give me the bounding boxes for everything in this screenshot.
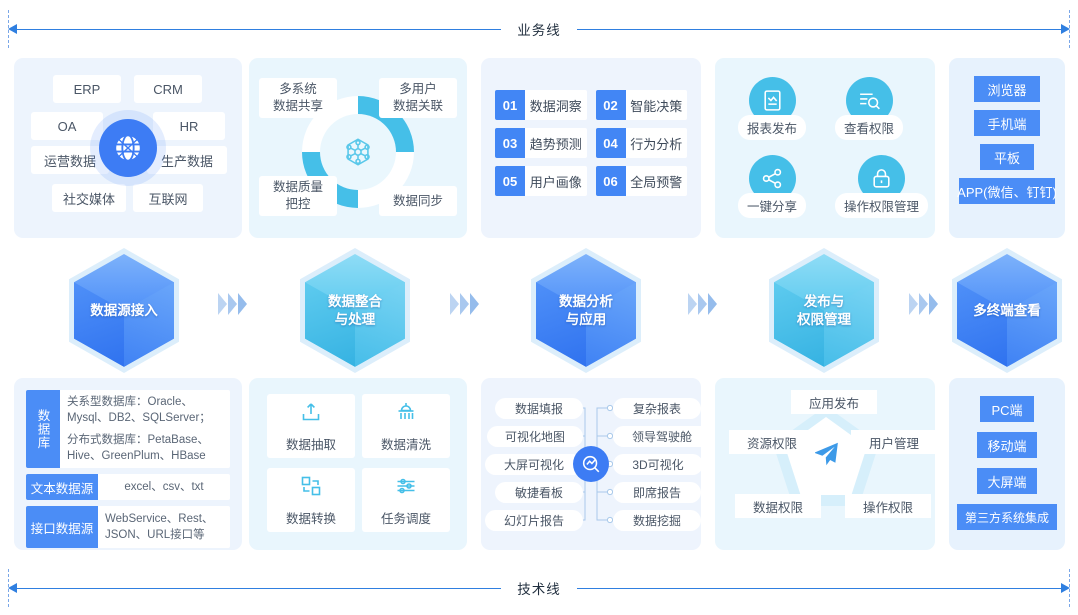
integration-label-sync-line1: 数据同步 bbox=[393, 193, 443, 210]
analysis-number-02: 02 bbox=[596, 90, 626, 120]
analysis-item-06[interactable]: 06 全局预警 bbox=[596, 166, 688, 196]
analysis-text-01: 数据洞察 bbox=[525, 90, 587, 120]
publish-tile-report-label: 报表发布 bbox=[738, 115, 806, 140]
paper-plane-icon bbox=[811, 439, 841, 474]
stage-hex-label-4-line2: 权限管理 bbox=[797, 311, 851, 329]
stage-hex-label-4: 发布与 权限管理 bbox=[769, 248, 879, 373]
stage-hex-label-2-line1: 数据整合 bbox=[328, 293, 382, 311]
permission-node-operation[interactable]: 操作权限 bbox=[845, 494, 931, 518]
integration-label-relate-line2: 数据关联 bbox=[393, 98, 443, 115]
sliders-schedule-icon bbox=[394, 474, 418, 503]
etl-tile-extract[interactable]: 数据抽取 bbox=[267, 394, 355, 458]
stage-hex-label-2-line2: 与处理 bbox=[328, 311, 382, 329]
terminal-button-bigscreen[interactable]: 大屏端 bbox=[977, 468, 1037, 494]
analysis-text-06: 全局预警 bbox=[626, 166, 688, 196]
stage-hex-multi-terminal[interactable]: 多终端查看 bbox=[952, 248, 1062, 373]
analysis-number-06: 06 bbox=[596, 166, 626, 196]
app-node-exec-cockpit[interactable]: 领导驾驶舱 bbox=[613, 426, 711, 447]
source-chip-crm[interactable]: CRM bbox=[134, 75, 202, 103]
store-key-api: 接口数据源 bbox=[26, 506, 98, 548]
source-chip-social[interactable]: 社交媒体 bbox=[52, 184, 126, 212]
permission-node-data[interactable]: 数据权限 bbox=[735, 494, 821, 518]
etl-tile-schedule[interactable]: 任务调度 bbox=[362, 468, 450, 532]
panel-data-integration: 多系统 数据共享 多用户 数据关联 数据质量 把控 数据同步 bbox=[249, 58, 467, 238]
terminal-button-third-party[interactable]: 第三方系统集成 bbox=[957, 504, 1057, 530]
stage-hex-label-4-line1: 发布与 bbox=[797, 293, 851, 311]
stage-hex-label-3-line2: 与应用 bbox=[559, 311, 613, 329]
terminal-button-mobile[interactable]: 手机端 bbox=[974, 110, 1040, 136]
etl-tile-transform[interactable]: 数据转换 bbox=[267, 468, 355, 532]
axis-arrow-left-icon bbox=[8, 24, 17, 34]
panel-publish-permission: 报表发布 查看权限 一键分享 bbox=[715, 58, 935, 238]
store-db-line2: 分布式数据库：PetaBase、Hive、GreenPlum、HBase bbox=[67, 432, 223, 464]
source-chip-erp[interactable]: ERP bbox=[53, 75, 121, 103]
integration-label-quality-line2: 把控 bbox=[285, 196, 310, 213]
axis-dash-right bbox=[1069, 10, 1070, 48]
store-value-database: 关系型数据库：Oracle、Mysql、DB2、SQLServer； 分布式数据… bbox=[60, 390, 230, 468]
stage-hex-publish[interactable]: 发布与 权限管理 bbox=[769, 248, 879, 373]
panel-data-sources: ERP CRM OA HR 运营数据 生产数据 社交媒体 互联网 bbox=[14, 58, 242, 238]
globe-network-icon bbox=[99, 119, 157, 177]
source-chip-oa[interactable]: OA bbox=[31, 112, 103, 140]
panel-data-analysis: 01 数据洞察 02 智能决策 03 趋势预测 04 行为分析 05 用户画像 … bbox=[481, 58, 701, 238]
store-db-line1: 关系型数据库：Oracle、Mysql、DB2、SQLServer； bbox=[67, 394, 223, 426]
analysis-item-05[interactable]: 05 用户画像 bbox=[495, 166, 587, 196]
source-chip-internet[interactable]: 互联网 bbox=[133, 184, 203, 212]
terminal-button-app[interactable]: APP(微信、钉钉) bbox=[959, 178, 1055, 204]
store-key-text: 文本数据源 bbox=[26, 474, 98, 500]
axis-dash-left bbox=[8, 10, 9, 48]
publish-tile-view-permission[interactable]: 查看权限 bbox=[835, 77, 903, 140]
tech-line-label: 技术线 bbox=[501, 578, 577, 598]
flow-arrow-3-icon bbox=[688, 293, 717, 315]
integration-label-relate-line1: 多用户 bbox=[399, 81, 437, 98]
panel-data-store: 数据库 关系型数据库：Oracle、Mysql、DB2、SQLServer； 分… bbox=[14, 378, 242, 550]
integration-label-share-line2: 数据共享 bbox=[273, 98, 323, 115]
app-node-visual-map[interactable]: 可视化地图 bbox=[487, 426, 583, 447]
analysis-item-04[interactable]: 04 行为分析 bbox=[596, 128, 688, 158]
store-row-text[interactable]: 文本数据源 excel、csv、txt bbox=[26, 474, 230, 500]
app-node-big-screen[interactable]: 大屏可视化 bbox=[485, 454, 583, 475]
publish-tile-view-permission-label: 查看权限 bbox=[835, 115, 903, 140]
publish-tile-share-label: 一键分享 bbox=[738, 193, 806, 218]
store-row-api[interactable]: 接口数据源 WebService、Rest、JSON、URL接口等 bbox=[26, 506, 230, 548]
panel-etl-process: 数据抽取 数据清洗 数据转换 bbox=[249, 378, 467, 550]
panel-multi-terminal: 浏览器 手机端 平板 APP(微信、钉钉) bbox=[949, 58, 1065, 238]
integration-label-share: 多系统 数据共享 bbox=[259, 78, 337, 118]
stage-hex-label-1: 数据源接入 bbox=[69, 248, 179, 373]
terminal-button-browser[interactable]: 浏览器 bbox=[974, 76, 1040, 102]
publish-tile-share[interactable]: 一键分享 bbox=[738, 155, 806, 218]
stage-hex-data-integration[interactable]: 数据整合 与处理 bbox=[300, 248, 410, 373]
publish-tile-op-permission-label: 操作权限管理 bbox=[835, 193, 928, 218]
integration-label-sync: 数据同步 bbox=[379, 186, 457, 216]
app-node-agile-board[interactable]: 敏捷看板 bbox=[495, 482, 583, 503]
transform-swap-icon bbox=[299, 474, 323, 503]
etl-tile-transform-label: 数据转换 bbox=[286, 508, 336, 527]
publish-tile-op-permission[interactable]: 操作权限管理 bbox=[835, 155, 928, 218]
panel-permission-center: 应用发布 资源权限 用户管理 数据权限 操作权限 bbox=[715, 378, 935, 550]
integration-label-quality: 数据质量 把控 bbox=[259, 176, 337, 216]
source-chip-operations[interactable]: 运营数据 bbox=[31, 146, 109, 174]
axis-line-left bbox=[17, 29, 501, 30]
diagram-canvas: 业务线 ERP CRM OA HR 运营数据 生产数据 社交媒体 互联网 bbox=[0, 0, 1078, 615]
flow-arrow-4-icon bbox=[909, 293, 938, 315]
axis-arrow-left-bottom-icon bbox=[8, 583, 17, 593]
flow-arrow-1-icon bbox=[218, 293, 247, 315]
source-chip-hr[interactable]: HR bbox=[153, 112, 225, 140]
analysis-number-01: 01 bbox=[495, 90, 525, 120]
stage-hex-label-5: 多终端查看 bbox=[952, 248, 1062, 373]
stage-hex-label-3-line1: 数据分析 bbox=[559, 293, 613, 311]
etl-tile-schedule-label: 任务调度 bbox=[381, 508, 431, 527]
business-line-label: 业务线 bbox=[501, 19, 577, 39]
app-node-complex-report[interactable]: 复杂报表 bbox=[613, 398, 701, 419]
publish-tile-report[interactable]: 报表发布 bbox=[738, 77, 806, 140]
analysis-text-05: 用户画像 bbox=[525, 166, 587, 196]
permission-node-app-publish[interactable]: 应用发布 bbox=[791, 390, 877, 414]
analysis-item-grid: 01 数据洞察 02 智能决策 03 趋势预测 04 行为分析 05 用户画像 … bbox=[495, 90, 687, 196]
terminal-button-mobile-end[interactable]: 移动端 bbox=[977, 432, 1037, 458]
stage-hex-data-source[interactable]: 数据源接入 bbox=[69, 248, 179, 373]
store-value-text: excel、csv、txt bbox=[98, 474, 230, 500]
app-node-3d-visual[interactable]: 3D可视化 bbox=[613, 454, 703, 475]
store-row-database[interactable]: 数据库 关系型数据库：Oracle、Mysql、DB2、SQLServer； 分… bbox=[26, 390, 230, 468]
tech-line-axis: 技术线 bbox=[8, 569, 1070, 607]
source-chip-production[interactable]: 生产数据 bbox=[147, 146, 227, 174]
upload-box-icon bbox=[299, 400, 323, 429]
analysis-item-03[interactable]: 03 趋势预测 bbox=[495, 128, 587, 158]
store-key-database: 数据库 bbox=[26, 390, 60, 468]
stage-hex-data-analysis[interactable]: 数据分析 与应用 bbox=[531, 248, 641, 373]
terminal-button-pc[interactable]: PC端 bbox=[980, 396, 1034, 422]
axis-line-right-bottom bbox=[577, 588, 1061, 589]
axis-line-right bbox=[577, 29, 1061, 30]
app-node-slide-report[interactable]: 幻灯片报告 bbox=[485, 510, 583, 531]
analytics-search-icon bbox=[573, 446, 609, 482]
analysis-number-04: 04 bbox=[596, 128, 626, 158]
app-node-adhoc-report[interactable]: 即席报告 bbox=[613, 482, 701, 503]
analysis-text-03: 趋势预测 bbox=[525, 128, 587, 158]
integration-label-quality-line1: 数据质量 bbox=[273, 179, 323, 196]
broom-clean-icon bbox=[394, 400, 418, 429]
axis-line-left-bottom bbox=[17, 588, 501, 589]
stage-hex-label-2: 数据整合 与处理 bbox=[300, 248, 410, 373]
etl-tile-extract-label: 数据抽取 bbox=[286, 434, 336, 453]
store-value-api: WebService、Rest、JSON、URL接口等 bbox=[98, 506, 230, 548]
analysis-text-04: 行为分析 bbox=[626, 128, 688, 158]
analysis-number-03: 03 bbox=[495, 128, 525, 158]
axis-dash-right-bottom bbox=[1069, 569, 1070, 607]
etl-tile-clean[interactable]: 数据清洗 bbox=[362, 394, 450, 458]
app-node-data-mining[interactable]: 数据挖掘 bbox=[613, 510, 701, 531]
panel-analysis-apps: 数据填报 可视化地图 大屏可视化 敏捷看板 幻灯片报告 复杂报表 领导驾驶舱 3… bbox=[481, 378, 701, 550]
etl-tile-clean-label: 数据清洗 bbox=[381, 434, 431, 453]
analysis-number-05: 05 bbox=[495, 166, 525, 196]
terminal-button-tablet[interactable]: 平板 bbox=[980, 144, 1034, 170]
axis-dash-left-bottom bbox=[8, 569, 9, 607]
integration-label-relate: 多用户 数据关联 bbox=[379, 78, 457, 118]
integration-label-share-line1: 多系统 bbox=[279, 81, 317, 98]
permission-node-resource[interactable]: 资源权限 bbox=[729, 430, 815, 454]
business-line-axis: 业务线 bbox=[8, 10, 1070, 48]
analysis-item-02[interactable]: 02 智能决策 bbox=[596, 90, 688, 120]
panel-terminals: PC端 移动端 大屏端 第三方系统集成 bbox=[949, 378, 1065, 550]
permission-node-user-mgmt[interactable]: 用户管理 bbox=[851, 430, 937, 454]
stage-hex-label-3: 数据分析 与应用 bbox=[531, 248, 641, 373]
analysis-item-01[interactable]: 01 数据洞察 bbox=[495, 90, 587, 120]
flow-arrow-2-icon bbox=[450, 293, 479, 315]
analysis-text-02: 智能决策 bbox=[626, 90, 688, 120]
app-node-data-entry[interactable]: 数据填报 bbox=[495, 398, 583, 419]
